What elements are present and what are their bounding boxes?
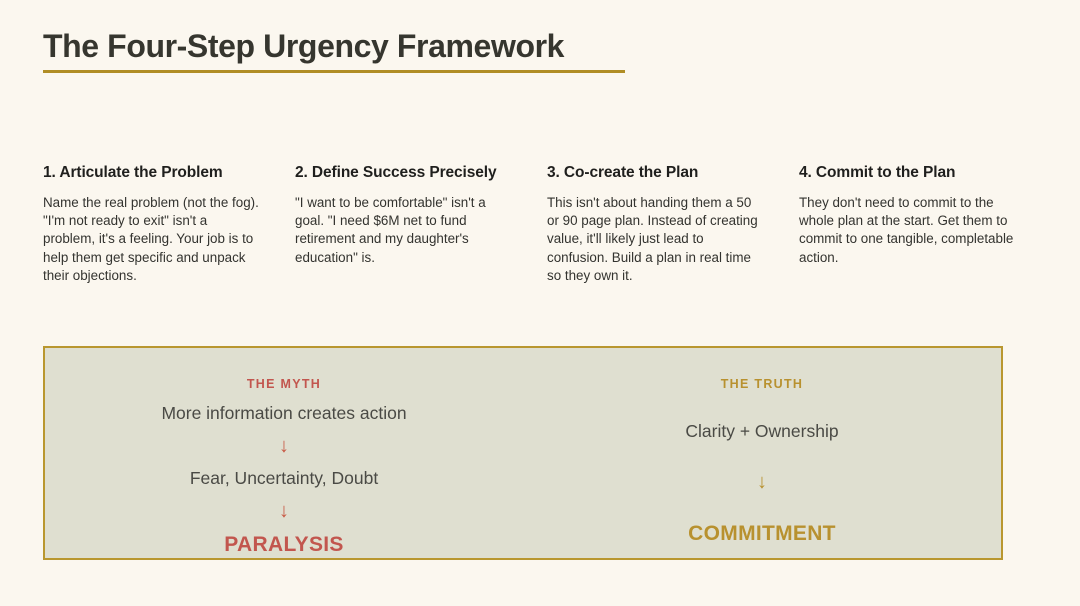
step-card-3: 3. Co-create the Plan This isn't about h… <box>547 164 766 285</box>
step-body-2: "I want to be comfortable" isn't a goal.… <box>295 194 514 267</box>
down-arrow-icon: ↓ <box>279 436 289 456</box>
page-title: The Four-Step Urgency Framework <box>43 28 564 65</box>
step-heading-2: 2. Define Success Precisely <box>295 164 514 182</box>
steps-row: 1. Articulate the Problem Name the real … <box>43 164 1037 285</box>
myth-column: THE MYTH More information creates action… <box>45 348 523 558</box>
truth-outcome: COMMITMENT <box>688 522 836 546</box>
down-arrow-icon: ↓ <box>757 472 767 492</box>
step-card-1: 1. Articulate the Problem Name the real … <box>43 164 262 285</box>
step-body-3: This isn't about handing them a 50 or 90… <box>547 194 766 285</box>
step-card-4: 4. Commit to the Plan They don't need to… <box>799 164 1018 285</box>
myth-step-1: More information creates action <box>161 403 406 424</box>
truth-kicker: THE TRUTH <box>721 377 804 391</box>
step-heading-4: 4. Commit to the Plan <box>799 164 1018 182</box>
step-card-2: 2. Define Success Precisely "I want to b… <box>295 164 514 285</box>
step-heading-1: 1. Articulate the Problem <box>43 164 262 182</box>
myth-kicker: THE MYTH <box>247 377 321 391</box>
myth-vs-truth-panel: THE MYTH More information creates action… <box>43 346 1003 560</box>
truth-column: THE TRUTH Clarity + Ownership ↓ COMMITME… <box>523 348 1001 558</box>
myth-step-2: Fear, Uncertainty, Doubt <box>190 468 378 489</box>
truth-step-1: Clarity + Ownership <box>685 421 838 442</box>
title-underline-rule <box>43 70 625 73</box>
step-body-4: They don't need to commit to the whole p… <box>799 194 1018 267</box>
step-body-1: Name the real problem (not the fog). "I'… <box>43 194 262 285</box>
step-heading-3: 3. Co-create the Plan <box>547 164 766 182</box>
down-arrow-icon: ↓ <box>279 501 289 521</box>
myth-outcome: PARALYSIS <box>224 533 343 557</box>
